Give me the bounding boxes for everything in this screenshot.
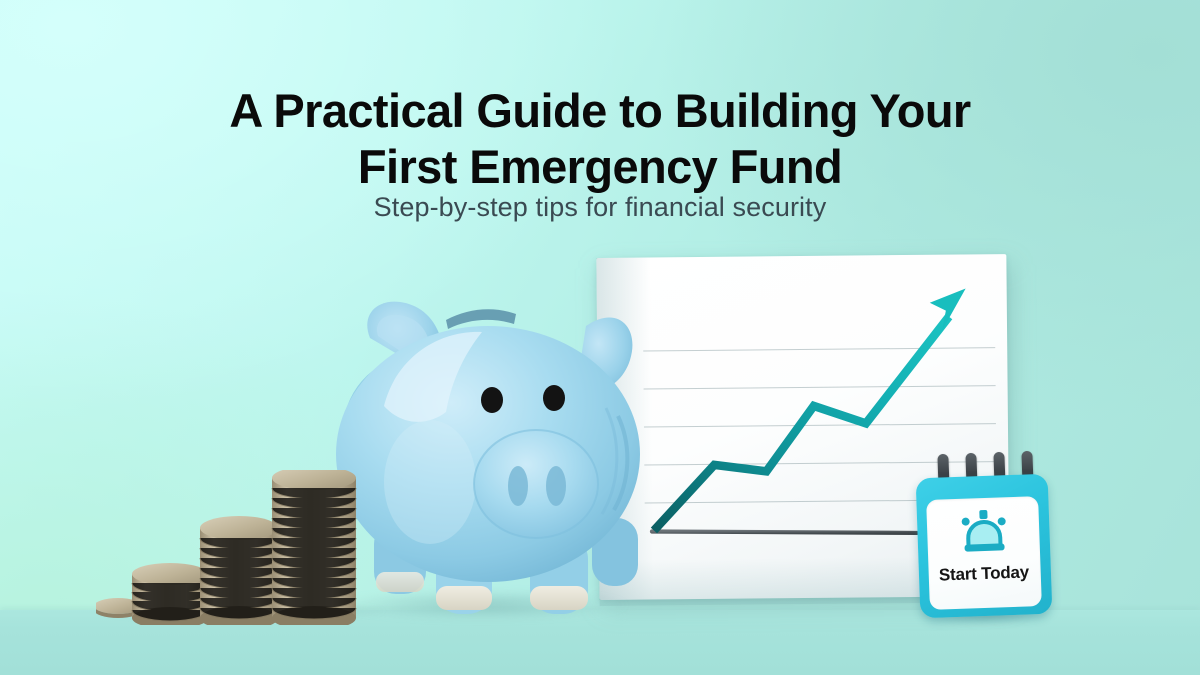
- start-today-calendar[interactable]: Start Today: [908, 452, 1060, 624]
- calendar-label: Start Today: [928, 562, 1041, 586]
- page-subtitle: Step-by-step tips for financial security: [0, 190, 1200, 224]
- page-title: A Practical Guide to Building Your First…: [0, 83, 1200, 195]
- banner-canvas: A Practical Guide to Building Your First…: [0, 0, 1200, 675]
- chart-axes: [650, 313, 917, 536]
- coin-stack-short: [132, 563, 208, 625]
- piggy-bank-coins-icon: [955, 507, 1013, 555]
- title-line-1: A Practical Guide to Building Your: [229, 84, 970, 137]
- title-line-2: First Emergency Fund: [0, 139, 1200, 195]
- coin-stack-medium: [200, 516, 278, 625]
- coin-stacks: [96, 470, 386, 625]
- coin-stack-tall: [272, 470, 356, 625]
